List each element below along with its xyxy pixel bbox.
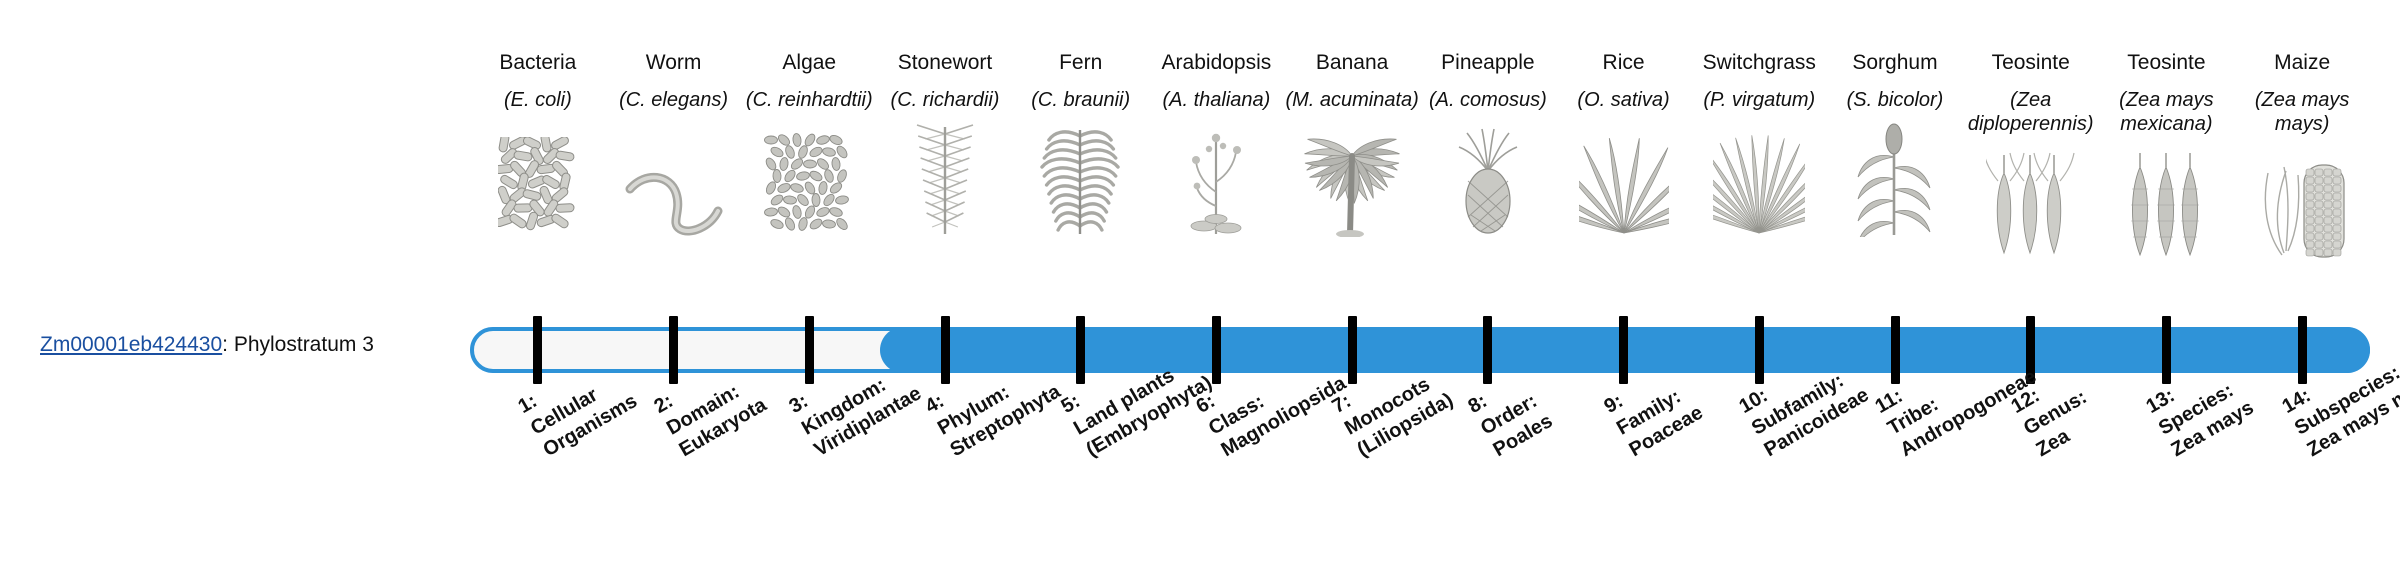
species-common-name: Fern	[1013, 50, 1149, 76]
species-latin-name: (C. richardii)	[877, 88, 1013, 112]
banana-tree-icon	[1284, 122, 1420, 237]
species-common-name: Bacteria	[470, 50, 606, 76]
species-latin-name: (O. sativa)	[1556, 88, 1692, 112]
species-column: Arabidopsis(A. thaliana)	[1149, 50, 1285, 237]
pineapple-icon	[1420, 122, 1556, 237]
species-column: Pineapple(A. comosus)	[1420, 50, 1556, 237]
gene-id-link[interactable]: Zm00001eb424430	[40, 333, 222, 356]
species-latin-name: (M. acuminata)	[1284, 88, 1420, 112]
species-column: Maize(Zea mays mays)	[2234, 50, 2370, 261]
species-column: Bacteria(E. coli)	[470, 50, 606, 237]
fern-frond-icon	[1013, 122, 1149, 237]
phylostratum-text: Phylostratum 3	[234, 333, 374, 356]
species-latin-name: (Zea mays mays)	[2234, 88, 2370, 136]
species-latin-name: (S. bicolor)	[1827, 88, 1963, 112]
species-latin-name: (C. elegans)	[606, 88, 742, 112]
bacteria-rods-icon	[470, 122, 606, 237]
phylostratum-tick	[533, 316, 542, 384]
species-column: Rice(O. sativa)	[1556, 50, 1692, 237]
gene-phylostratum-label: Zm00001eb424430: Phylostratum 3	[40, 333, 374, 357]
species-common-name: Worm	[606, 50, 742, 76]
species-latin-name: (P. virgatum)	[1691, 88, 1827, 112]
species-common-name: Pineapple	[1420, 50, 1556, 76]
species-common-name: Maize	[2234, 50, 2370, 76]
nematode-worm-icon	[606, 122, 742, 237]
species-latin-name: (Zea diploperennis)	[1963, 88, 2099, 136]
species-common-name: Banana	[1284, 50, 1420, 76]
species-column: Worm(C. elegans)	[606, 50, 742, 237]
species-common-name: Rice	[1556, 50, 1692, 76]
sorghum-plant-icon	[1827, 122, 1963, 237]
species-column: Algae(C. reinhardtii)	[741, 50, 877, 237]
stonewort-plant-icon	[877, 122, 1013, 237]
teosinte-ears-icon	[1963, 146, 2099, 261]
species-column: Sorghum(S. bicolor)	[1827, 50, 1963, 237]
teosinte-mexicana-ears-icon	[2099, 146, 2235, 261]
arabidopsis-plant-icon	[1149, 122, 1285, 237]
algae-cells-icon	[741, 122, 877, 237]
species-column: Banana(M. acuminata)	[1284, 50, 1420, 237]
species-common-name: Teosinte	[1963, 50, 2099, 76]
species-common-name: Sorghum	[1827, 50, 1963, 76]
species-latin-name: (C. reinhardtii)	[741, 88, 877, 112]
species-common-name: Arabidopsis	[1149, 50, 1285, 76]
species-latin-name: (Zea mays mexicana)	[2099, 88, 2235, 136]
species-column: Teosinte(Zea diploperennis)	[1963, 50, 2099, 261]
phylostratum-diagram: Zm00001eb424430: Phylostratum 3 Bacteria…	[0, 0, 2400, 580]
species-latin-name: (A. comosus)	[1420, 88, 1556, 112]
species-latin-name: (E. coli)	[470, 88, 606, 112]
species-common-name: Teosinte	[2099, 50, 2235, 76]
species-column: Stonewort(C. richardii)	[877, 50, 1013, 237]
species-latin-name: (A. thaliana)	[1149, 88, 1285, 112]
maize-ear-icon	[2234, 146, 2370, 261]
species-columns: Bacteria(E. coli)Worm(C. elegans) Algae(…	[470, 50, 2370, 300]
species-common-name: Switchgrass	[1691, 50, 1827, 76]
rice-plant-icon	[1556, 122, 1692, 237]
species-common-name: Algae	[741, 50, 877, 76]
switchgrass-icon	[1691, 122, 1827, 237]
gene-label-separator: :	[222, 333, 234, 356]
species-latin-name: (C. braunii)	[1013, 88, 1149, 112]
species-column: Switchgrass(P. virgatum)	[1691, 50, 1827, 237]
species-common-name: Stonewort	[877, 50, 1013, 76]
species-column: Teosinte(Zea mays mexicana)	[2099, 50, 2235, 261]
species-column: Fern(C. braunii)	[1013, 50, 1149, 237]
